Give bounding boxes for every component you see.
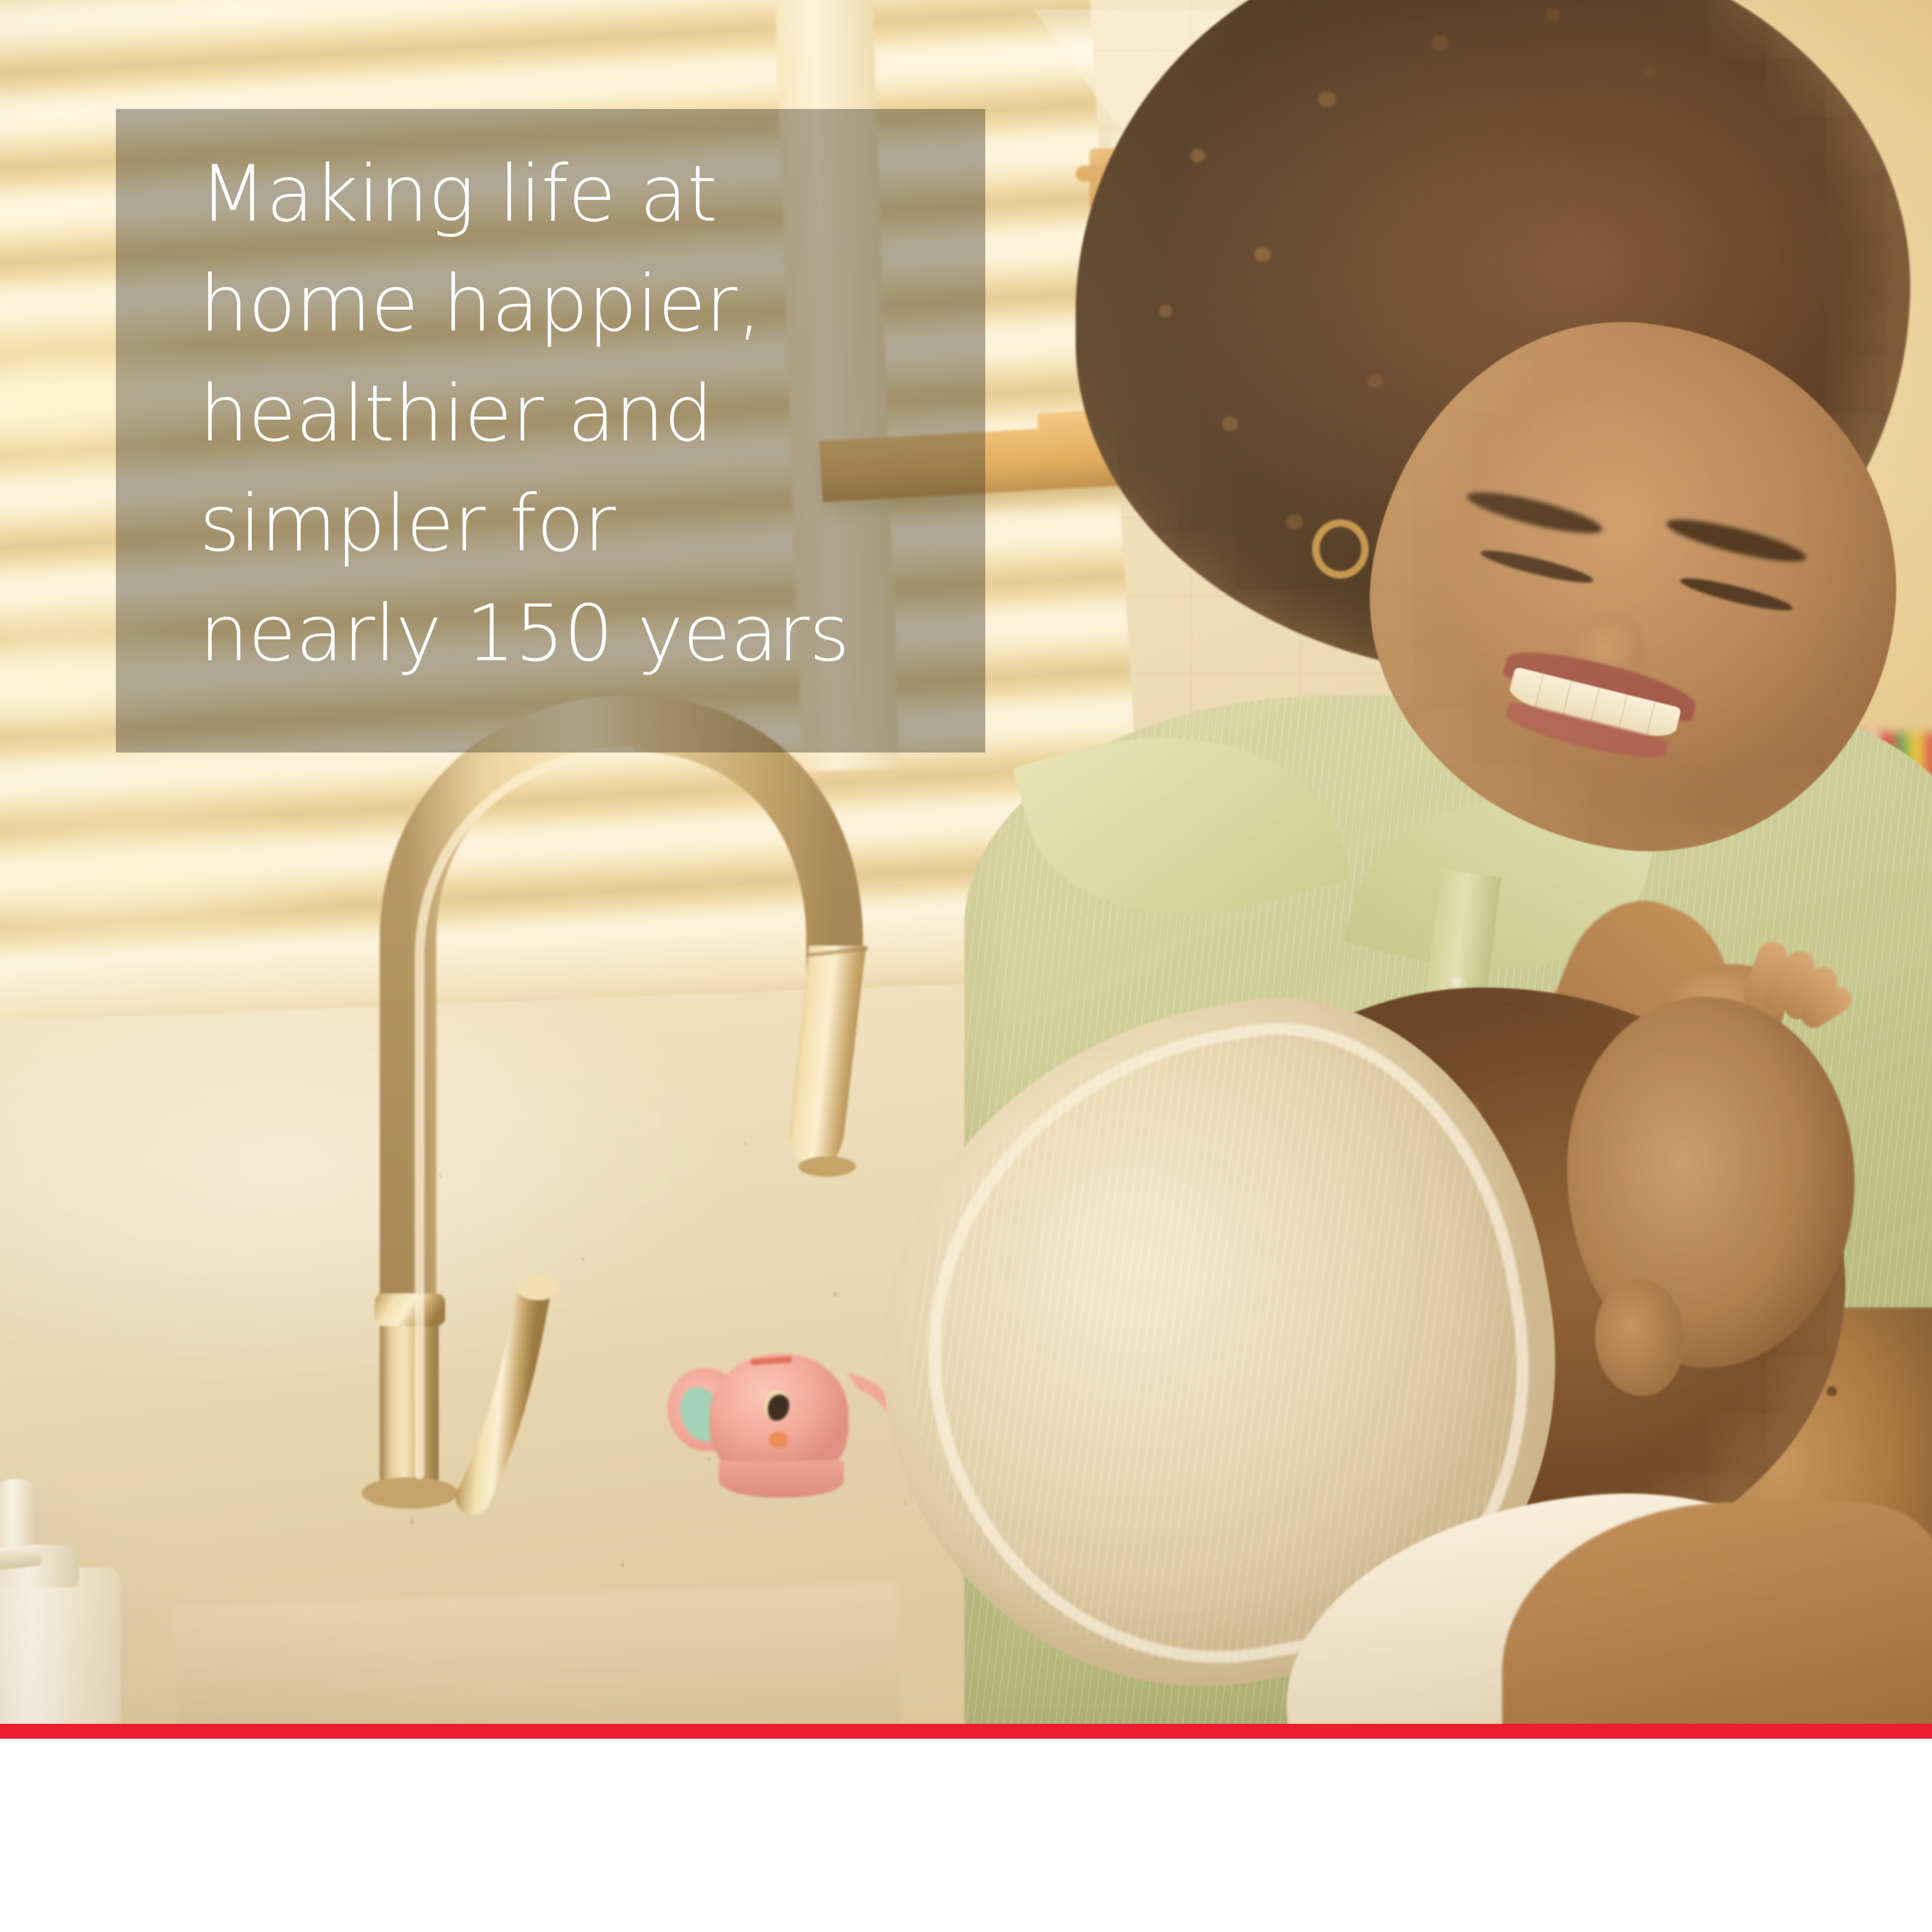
- brand-red-rule: [0, 1724, 1932, 1739]
- advertisement-canvas: Making life at home happier, healthier a…: [0, 0, 1932, 1932]
- gold-hoop-earring: [1312, 519, 1369, 579]
- headline-text: Making life at home happier, healthier a…: [199, 139, 969, 689]
- baby-skin-mark: [1827, 1386, 1837, 1396]
- hero-photo: Making life at home happier, healthier a…: [0, 0, 1932, 1724]
- baby-ear: [1595, 1280, 1683, 1396]
- footer-bar: American Standard: [0, 1739, 1932, 1932]
